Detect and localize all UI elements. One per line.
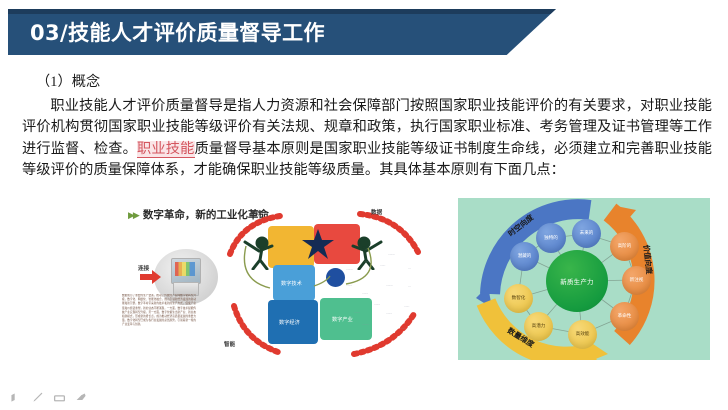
figure-digital-revolution: ▶▶数字革命，新的工业化革命 数字技术 数字经济 数字产业 — [118, 202, 448, 360]
label-online: 在线 — [250, 209, 261, 217]
figure-left-caption: 数据成为了重要的生产要素，推动了传统的产业向数字化转型升级，数字化、网络化、智能… — [122, 294, 196, 356]
label-data: 数据 — [371, 208, 382, 216]
red-arrow-icon — [140, 270, 162, 284]
body-copy: （1）概念 职业技能人才评价质量督导是指人力资源和社会保障部门按照国家职业技能评… — [22, 72, 712, 182]
figure-productive-forces: 新质生产力 独特的 未来的 潜藏的 高阶的 新注视 革命性 数智化 高潜力 高效… — [458, 198, 710, 360]
label-connect: 连接 — [138, 264, 149, 272]
pencil-icon[interactable] — [31, 391, 44, 404]
page-title: 03/技能人才评价质量督导工作 — [30, 17, 325, 47]
concept-heading: （1）概念 — [36, 72, 712, 94]
pen-tool-icon[interactable] — [9, 391, 22, 404]
node-unique: 独特的 — [536, 223, 566, 253]
node-latent: 潜藏的 — [510, 242, 539, 271]
node-high-efficiency: 高效能 — [568, 320, 597, 349]
label-smart: 智能 — [224, 340, 235, 348]
slide-title-banner: 03/技能人才评价质量督导工作 — [8, 9, 556, 55]
eraser-icon[interactable] — [53, 391, 66, 404]
center-node: 新质生产力 — [546, 250, 608, 312]
concept-paragraph: 职业技能人才评价质量督导是指人力资源和社会保障部门按照国家职业技能评价的有关要求… — [22, 96, 712, 182]
figure-left-mini-tree: ........ ........ ...... ........ ... ..… — [346, 250, 446, 350]
node-revolutionary: 革命性 — [610, 302, 639, 331]
node-future: 未来的 — [572, 219, 601, 248]
banner-top-stripe — [8, 9, 556, 14]
node-advanced: 高阶的 — [610, 232, 639, 261]
slide-canvas: 03/技能人才评价质量督导工作 （1）概念 职业技能人才评价质量督导是指人力资源… — [0, 0, 728, 410]
highlighter-icon[interactable] — [75, 391, 88, 404]
highlighted-term: 职业技能 — [137, 141, 195, 158]
node-digital-intelligent: 数智化 — [504, 284, 533, 313]
annotation-toolbar[interactable] — [9, 391, 88, 404]
